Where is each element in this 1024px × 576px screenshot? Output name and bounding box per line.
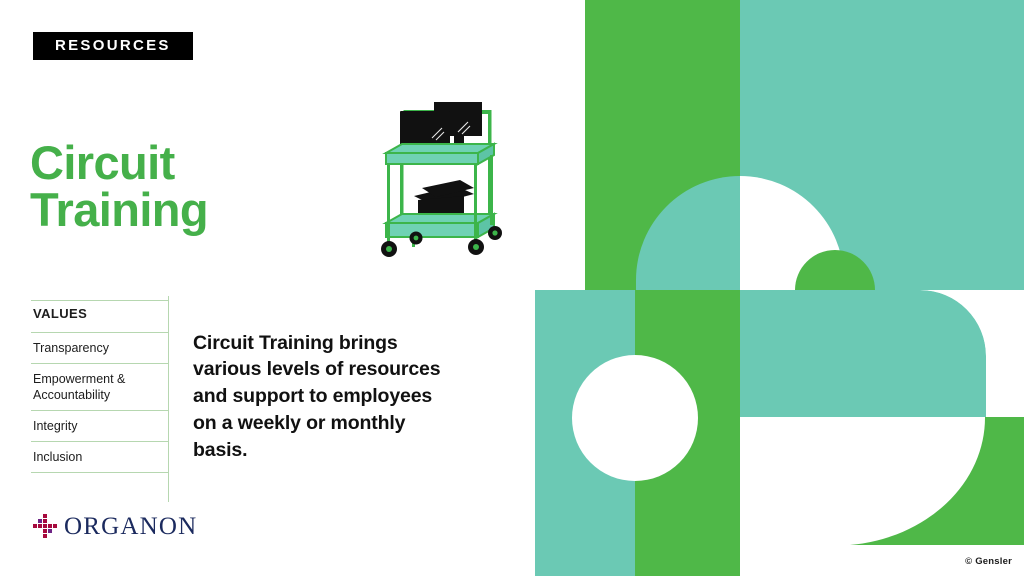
values-top-rule	[31, 300, 168, 301]
values-heading: VALUES	[31, 306, 168, 333]
graphic-bottom-left-cell	[530, 290, 740, 576]
slide-canvas: RESOURCES Circuit Training	[0, 0, 1024, 576]
values-panel: VALUES Transparency Empowerment & Accoun…	[31, 306, 168, 473]
value-item-transparency[interactable]: Transparency	[31, 333, 168, 364]
copyright-credit: © Gensler	[965, 556, 1012, 567]
cart-top-shelf	[386, 144, 494, 164]
graphic-top-right-cell	[740, 0, 1024, 330]
value-item-integrity[interactable]: Integrity	[31, 411, 168, 442]
utility-cart-illustration	[378, 92, 530, 264]
value-item-empowerment-accountability[interactable]: Empowerment & Accountability	[31, 364, 168, 411]
body-paragraph: Circuit Training brings various levels o…	[193, 330, 503, 465]
page-title: Circuit Training	[30, 139, 208, 233]
eyebrow-label: RESOURCES	[33, 32, 193, 60]
graphic-top-left-cell	[585, 0, 740, 290]
organon-wordmark: ORGANON	[64, 514, 197, 539]
organon-logo: ORGANON	[32, 513, 197, 539]
value-item-inclusion[interactable]: Inclusion	[31, 442, 168, 473]
values-vertical-rule	[168, 296, 169, 502]
cart-bottom-shelf	[386, 214, 494, 237]
decorative-geometric-graphic	[530, 0, 1024, 576]
organon-cross-mark-icon	[32, 513, 58, 539]
